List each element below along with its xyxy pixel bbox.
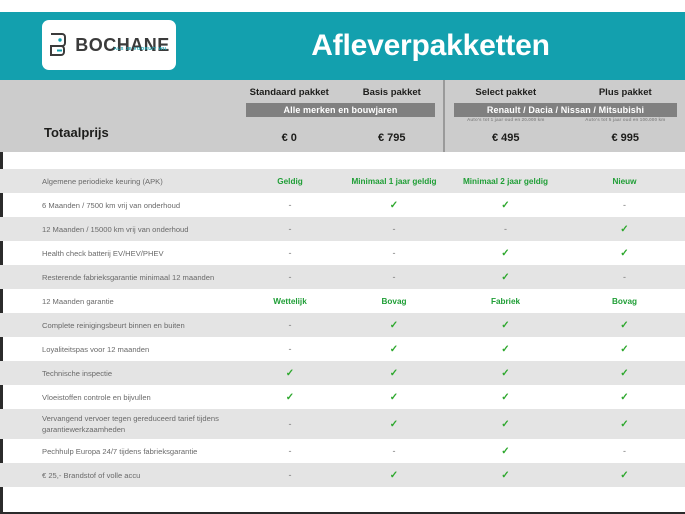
feature-cell: - <box>238 439 342 463</box>
column-subtitle-basis <box>341 117 444 127</box>
dash-icon: - <box>623 446 626 456</box>
dash-icon: - <box>289 344 292 354</box>
check-icon: ✓ <box>501 419 509 430</box>
feature-cells: -✓✓✓ <box>238 313 685 337</box>
feature-cell: ✓ <box>446 409 565 439</box>
feature-label: Algemene periodieke keuring (APK) <box>3 176 238 187</box>
dash-icon: - <box>289 419 292 429</box>
table-row: Complete reinigingsbeurt binnen en buite… <box>0 313 685 337</box>
feature-cell: - <box>342 217 446 241</box>
feature-cells: --✓✓ <box>238 241 685 265</box>
feature-cell: ✓ <box>238 385 342 409</box>
feature-cells: --✓- <box>238 439 685 463</box>
feature-cells: --✓- <box>238 265 685 289</box>
check-icon: ✓ <box>501 392 509 403</box>
feature-cells: GeldigMinimaal 1 jaar geldigMinimaal 2 j… <box>238 169 685 193</box>
dash-icon: - <box>289 200 292 210</box>
feature-cell: - <box>238 313 342 337</box>
feature-cell: - <box>342 265 446 289</box>
feature-cell: Bovag <box>342 289 446 313</box>
table-row: Technische inspectie✓✓✓✓ <box>0 361 685 385</box>
feature-label: Vervangend vervoer tegen gereduceerd tar… <box>3 413 238 435</box>
feature-cell: ✓ <box>342 337 446 361</box>
column-name-basis: Basis pakket <box>341 87 444 98</box>
check-icon: ✓ <box>390 419 398 430</box>
feature-label: 12 Maanden garantie <box>3 296 238 307</box>
feature-cell: - <box>446 217 565 241</box>
price-standaard: € 0 <box>238 132 341 144</box>
feature-cell: - <box>238 217 342 241</box>
check-icon: ✓ <box>620 344 628 355</box>
check-icon: ✓ <box>501 272 509 283</box>
feature-cells: ---✓ <box>238 217 685 241</box>
bochane-mark-icon <box>48 32 70 58</box>
table-row: 12 Maanden garantieWettelijkBovagFabriek… <box>0 289 685 313</box>
check-icon: ✓ <box>620 392 628 403</box>
logo-tagline: ALS JE VOORUIT WIL <box>114 46 168 51</box>
feature-label: Complete reinigingsbeurt binnen en buite… <box>3 320 238 331</box>
check-icon: ✓ <box>501 470 509 481</box>
cell-text: Geldig <box>277 177 302 186</box>
group-right-subtitles: Auto's tot 1 jaar oud en 20.000 km Auto'… <box>446 117 685 127</box>
table-row: 12 Maanden / 15000 km vrij van onderhoud… <box>0 217 685 241</box>
table-footer <box>0 487 685 514</box>
dash-icon: - <box>504 224 507 234</box>
column-subtitle-select: Auto's tot 1 jaar oud en 20.000 km <box>446 117 566 127</box>
feature-cell: ✓ <box>565 385 684 409</box>
column-name-standaard: Standaard pakket <box>238 87 341 98</box>
group-left-subtitles <box>238 117 443 127</box>
feature-cell: ✓ <box>565 241 684 265</box>
feature-cell: - <box>238 193 342 217</box>
feature-cell: ✓ <box>238 361 342 385</box>
feature-cell: ✓ <box>565 361 684 385</box>
group-right-prices: € 495 € 995 <box>446 127 685 149</box>
feature-cell: - <box>238 409 342 439</box>
feature-label: Health check batterij EV/HEV/PHEV <box>3 248 238 259</box>
feature-cell: ✓ <box>565 337 684 361</box>
dash-icon: - <box>393 446 396 456</box>
table-row: Vervangend vervoer tegen gereduceerd tar… <box>0 409 685 439</box>
dash-icon: - <box>289 224 292 234</box>
feature-cell: Bovag <box>565 289 684 313</box>
table-row: Resterende fabrieksgarantie minimaal 12 … <box>0 265 685 289</box>
feature-cell: - <box>565 193 684 217</box>
table-body: Algemene periodieke keuring (APK)GeldigM… <box>0 169 685 487</box>
check-icon: ✓ <box>501 200 509 211</box>
check-icon: ✓ <box>620 419 628 430</box>
feature-cell: - <box>238 241 342 265</box>
table-row: 6 Maanden / 7500 km vrij van onderhoud-✓… <box>0 193 685 217</box>
feature-cell: - <box>238 337 342 361</box>
feature-cell: ✓ <box>342 463 446 487</box>
feature-cell: ✓ <box>446 385 565 409</box>
feature-cell: Nieuw <box>565 169 684 193</box>
feature-cell: ✓ <box>446 193 565 217</box>
feature-cell: - <box>565 439 684 463</box>
check-icon: ✓ <box>620 470 628 481</box>
feature-cell: ✓ <box>446 439 565 463</box>
feature-cells: -✓✓✓ <box>238 337 685 361</box>
cell-text: Fabriek <box>491 297 520 306</box>
check-icon: ✓ <box>620 368 628 379</box>
feature-cells: WettelijkBovagFabriekBovag <box>238 289 685 313</box>
feature-cell: - <box>238 265 342 289</box>
table-row: € 25,- Brandstof of volle accu-✓✓✓ <box>0 463 685 487</box>
check-icon: ✓ <box>620 224 628 235</box>
feature-cells: -✓✓- <box>238 193 685 217</box>
check-icon: ✓ <box>286 368 294 379</box>
table-row: Vloeistoffen controle en bijvullen✓✓✓✓ <box>0 385 685 409</box>
group-left-scope-bar: Alle merken en bouwjaren <box>246 103 435 117</box>
table-spacer <box>0 152 685 169</box>
dash-icon: - <box>289 248 292 258</box>
column-subtitle-plus: Auto's tot 5 jaar oud en 100.000 km <box>566 117 685 127</box>
feature-cell: ✓ <box>342 385 446 409</box>
group-right-names: Select pakket Plus pakket <box>446 80 685 100</box>
feature-cell: ✓ <box>342 409 446 439</box>
check-icon: ✓ <box>286 392 294 403</box>
check-icon: ✓ <box>390 320 398 331</box>
package-group-right: Select pakket Plus pakket Renault / Daci… <box>446 80 685 152</box>
cell-text: Bovag <box>381 297 406 306</box>
feature-cell: - <box>342 439 446 463</box>
feature-cell: - <box>238 463 342 487</box>
group-right-scope-bar: Renault / Dacia / Nissan / Mitsubishi <box>454 103 677 117</box>
feature-cell: ✓ <box>565 313 684 337</box>
page-title: Afleverpakketten <box>176 12 685 80</box>
column-name-plus: Plus pakket <box>566 87 685 98</box>
check-icon: ✓ <box>501 344 509 355</box>
feature-label: 6 Maanden / 7500 km vrij van onderhoud <box>3 200 238 211</box>
dash-icon: - <box>393 224 396 234</box>
feature-cell: ✓ <box>446 241 565 265</box>
feature-cells: -✓✓✓ <box>238 409 685 439</box>
feature-cells: ✓✓✓✓ <box>238 385 685 409</box>
table-row: Health check batterij EV/HEV/PHEV--✓✓ <box>0 241 685 265</box>
column-subtitle-standaard <box>238 117 341 127</box>
feature-label: Technische inspectie <box>3 368 238 379</box>
feature-label: 12 Maanden / 15000 km vrij van onderhoud <box>3 224 238 235</box>
check-icon: ✓ <box>390 470 398 481</box>
dash-icon: - <box>289 272 292 282</box>
cell-text: Minimaal 1 jaar geldig <box>351 177 436 186</box>
check-icon: ✓ <box>390 200 398 211</box>
feature-label: € 25,- Brandstof of volle accu <box>3 470 238 481</box>
feature-cell: Minimaal 2 jaar geldig <box>446 169 565 193</box>
feature-cell: Geldig <box>238 169 342 193</box>
feature-cell: ✓ <box>446 313 565 337</box>
dash-icon: - <box>393 248 396 258</box>
cell-text: Minimaal 2 jaar geldig <box>463 177 548 186</box>
feature-cell: ✓ <box>565 409 684 439</box>
feature-label: Loyaliteitspas voor 12 maanden <box>3 344 238 355</box>
check-icon: ✓ <box>501 446 509 457</box>
feature-cell: ✓ <box>565 217 684 241</box>
table-row: Loyaliteitspas voor 12 maanden-✓✓✓ <box>0 337 685 361</box>
check-icon: ✓ <box>620 248 628 259</box>
price-plus: € 995 <box>566 132 685 144</box>
feature-table: Algemene periodieke keuring (APK)GeldigM… <box>0 152 685 514</box>
check-icon: ✓ <box>501 368 509 379</box>
dash-icon: - <box>289 320 292 330</box>
group-left-names: Standaard pakket Basis pakket <box>238 80 443 100</box>
price-basis: € 795 <box>341 132 444 144</box>
check-icon: ✓ <box>390 392 398 403</box>
table-row: Algemene periodieke keuring (APK)GeldigM… <box>0 169 685 193</box>
dash-icon: - <box>393 272 396 282</box>
check-icon: ✓ <box>390 368 398 379</box>
package-group-left: Standaard pakket Basis pakket Alle merke… <box>238 80 443 152</box>
cell-text: Wettelijk <box>273 297 307 306</box>
dash-icon: - <box>623 272 626 282</box>
logo-wordmark: BOCHANE <box>75 36 170 54</box>
feature-cell: Wettelijk <box>238 289 342 313</box>
dash-icon: - <box>623 200 626 210</box>
check-icon: ✓ <box>501 320 509 331</box>
check-icon: ✓ <box>390 344 398 355</box>
column-name-select: Select pakket <box>446 87 566 98</box>
logo[interactable]: BOCHANE ALS JE VOORUIT WIL <box>42 20 176 70</box>
feature-cell: - <box>565 265 684 289</box>
feature-label: Resterende fabrieksgarantie minimaal 12 … <box>3 272 238 283</box>
feature-label: Pechhulp Europa 24/7 tijdens fabrieksgar… <box>3 446 238 457</box>
feature-cell: ✓ <box>446 337 565 361</box>
feature-cell: Minimaal 1 jaar geldig <box>342 169 446 193</box>
dash-icon: - <box>289 470 292 480</box>
feature-cells: ✓✓✓✓ <box>238 361 685 385</box>
feature-cell: ✓ <box>342 193 446 217</box>
feature-cell: ✓ <box>446 265 565 289</box>
cell-text: Bovag <box>612 297 637 306</box>
feature-cell: Fabriek <box>446 289 565 313</box>
feature-cell: - <box>342 241 446 265</box>
group-left-prices: € 0 € 795 <box>238 127 443 149</box>
check-icon: ✓ <box>620 320 628 331</box>
feature-label: Vloeistoffen controle en bijvullen <box>3 392 238 403</box>
cell-text: Nieuw <box>612 177 636 186</box>
feature-cell: ✓ <box>565 463 684 487</box>
price-select: € 495 <box>446 132 566 144</box>
feature-cell: ✓ <box>446 361 565 385</box>
poster-root: BOCHANE ALS JE VOORUIT WIL Afleverpakket… <box>0 0 685 514</box>
feature-cell: ✓ <box>342 361 446 385</box>
check-icon: ✓ <box>501 248 509 259</box>
table-row: Pechhulp Europa 24/7 tijdens fabrieksgar… <box>0 439 685 463</box>
feature-cell: ✓ <box>342 313 446 337</box>
table-header-left: Totaalprijs <box>0 80 238 152</box>
feature-cell: ✓ <box>446 463 565 487</box>
feature-cells: -✓✓✓ <box>238 463 685 487</box>
totaalprijs-label: Totaalprijs <box>0 125 109 152</box>
dash-icon: - <box>289 446 292 456</box>
